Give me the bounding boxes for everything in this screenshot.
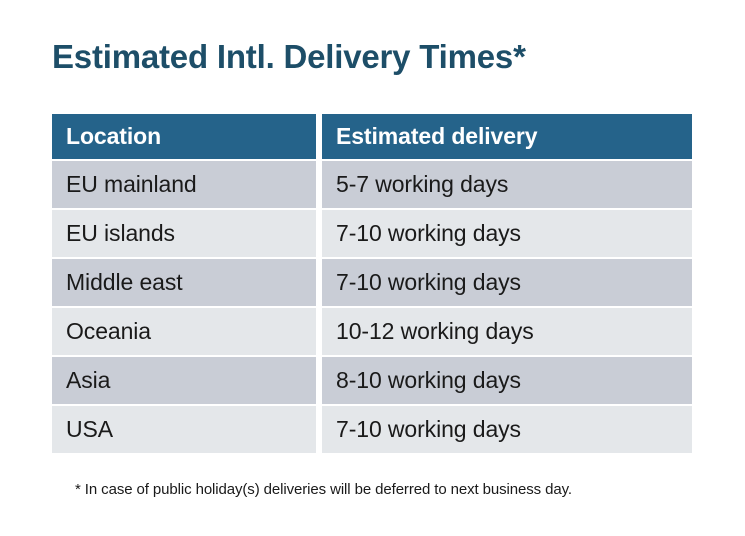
table-cell-delivery: 7-10 working days [322,406,692,453]
table-header-row: Location Estimated delivery [52,114,692,159]
table-row: Oceania 10-12 working days [52,308,692,355]
page-title: Estimated Intl. Delivery Times* [52,36,526,78]
table-cell-location: USA [52,406,316,453]
delivery-times-page: Estimated Intl. Delivery Times* Location… [0,0,745,536]
table-row: EU islands 7-10 working days [52,210,692,257]
cell-value-location: Asia [66,367,110,394]
table-cell-location: Asia [52,357,316,404]
cell-value-location: USA [66,416,113,443]
table-cell-delivery: 7-10 working days [322,210,692,257]
cell-value-location: EU mainland [66,171,197,198]
table-cell-delivery: 5-7 working days [322,161,692,208]
table-cell-delivery: 8-10 working days [322,357,692,404]
table-header-cell-location: Location [52,114,316,159]
table-row: Asia 8-10 working days [52,357,692,404]
footnote-text: * In case of public holiday(s) deliverie… [75,481,572,498]
cell-value-location: EU islands [66,220,175,247]
table-row: EU mainland 5-7 working days [52,161,692,208]
cell-value-location: Oceania [66,318,151,345]
cell-value-location: Middle east [66,269,183,296]
table-cell-location: EU mainland [52,161,316,208]
table-cell-location: Oceania [52,308,316,355]
table-row: Middle east 7-10 working days [52,259,692,306]
column-header-location: Location [66,123,161,150]
table-cell-location: Middle east [52,259,316,306]
table-cell-delivery: 7-10 working days [322,259,692,306]
cell-value-delivery: 7-10 working days [336,416,521,443]
table-row: USA 7-10 working days [52,406,692,453]
cell-value-delivery: 7-10 working days [336,220,521,247]
delivery-times-table: Location Estimated delivery EU mainland … [52,114,692,455]
table-cell-location: EU islands [52,210,316,257]
column-header-delivery: Estimated delivery [336,123,537,150]
cell-value-delivery: 8-10 working days [336,367,521,394]
table-cell-delivery: 10-12 working days [322,308,692,355]
cell-value-delivery: 10-12 working days [336,318,534,345]
table-header-cell-delivery: Estimated delivery [322,114,692,159]
cell-value-delivery: 5-7 working days [336,171,508,198]
cell-value-delivery: 7-10 working days [336,269,521,296]
